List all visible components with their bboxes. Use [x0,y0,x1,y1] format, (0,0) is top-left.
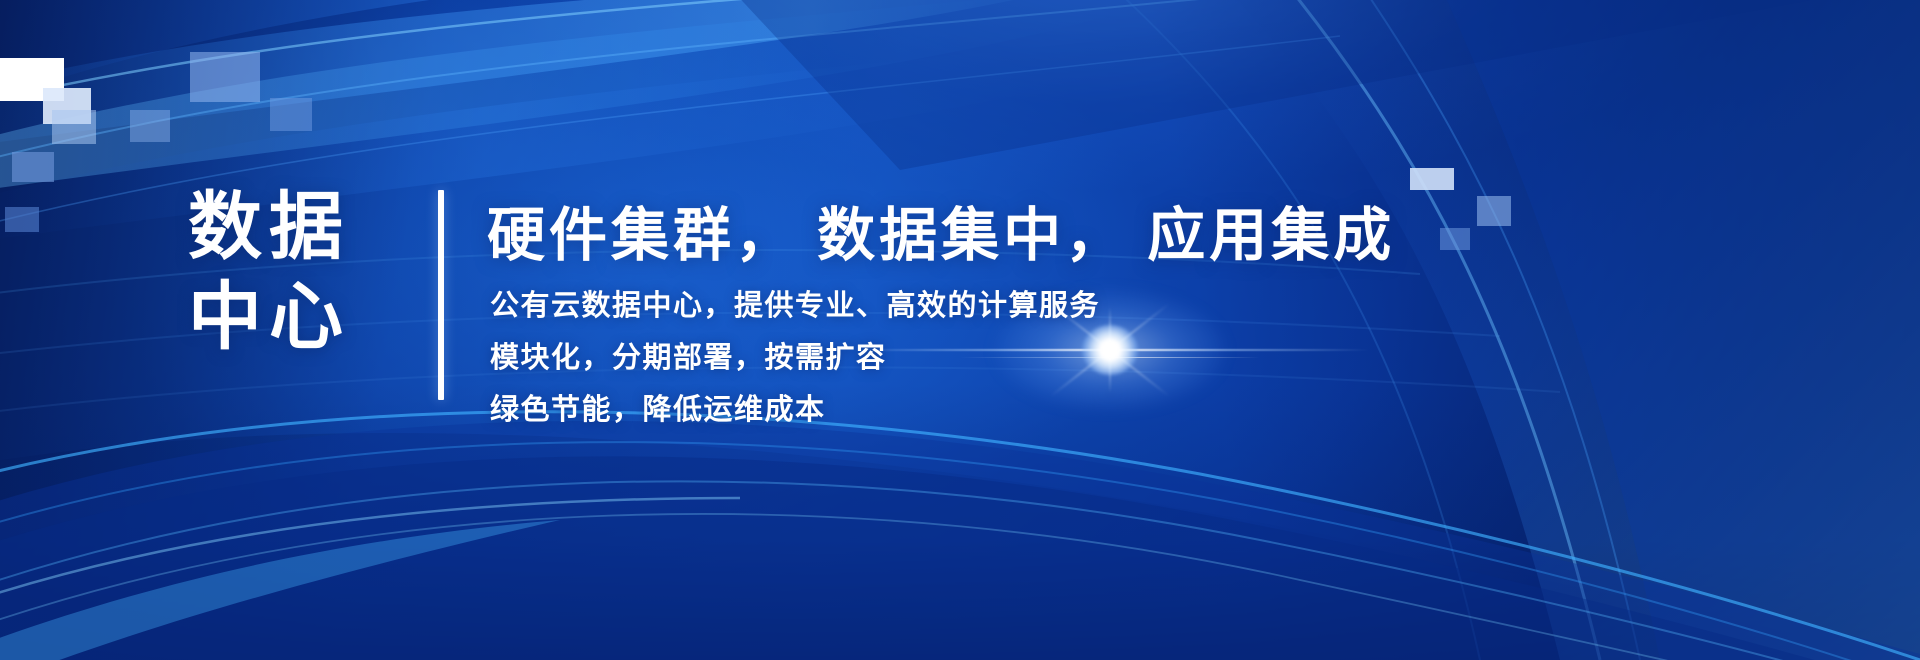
brand-title: 数据 中心 [188,182,398,363]
data-center-banner: 数据 中心 硬件集群， 数据集中， 应用集成 公有云数据中心，提供专业、高效的计… [0,0,1920,660]
subline-1: 公有云数据中心，提供专业、高效的计算服务 [490,280,1100,332]
subline-2: 模块化，分期部署，按需扩容 [490,332,1100,384]
headline: 硬件集群， 数据集中， 应用集成 [487,188,1395,272]
subline-group: 公有云数据中心，提供专业、高效的计算服务 模块化，分期部署，按需扩容 绿色节能，… [490,280,1100,436]
banner-content: 数据 中心 硬件集群， 数据集中， 应用集成 公有云数据中心，提供专业、高效的计… [0,0,1920,660]
subline-3: 绿色节能，降低运维成本 [490,384,1100,436]
brand-title-line-1: 数据 [188,182,398,272]
vertical-divider [438,190,444,400]
brand-title-line-2: 中心 [188,272,398,362]
